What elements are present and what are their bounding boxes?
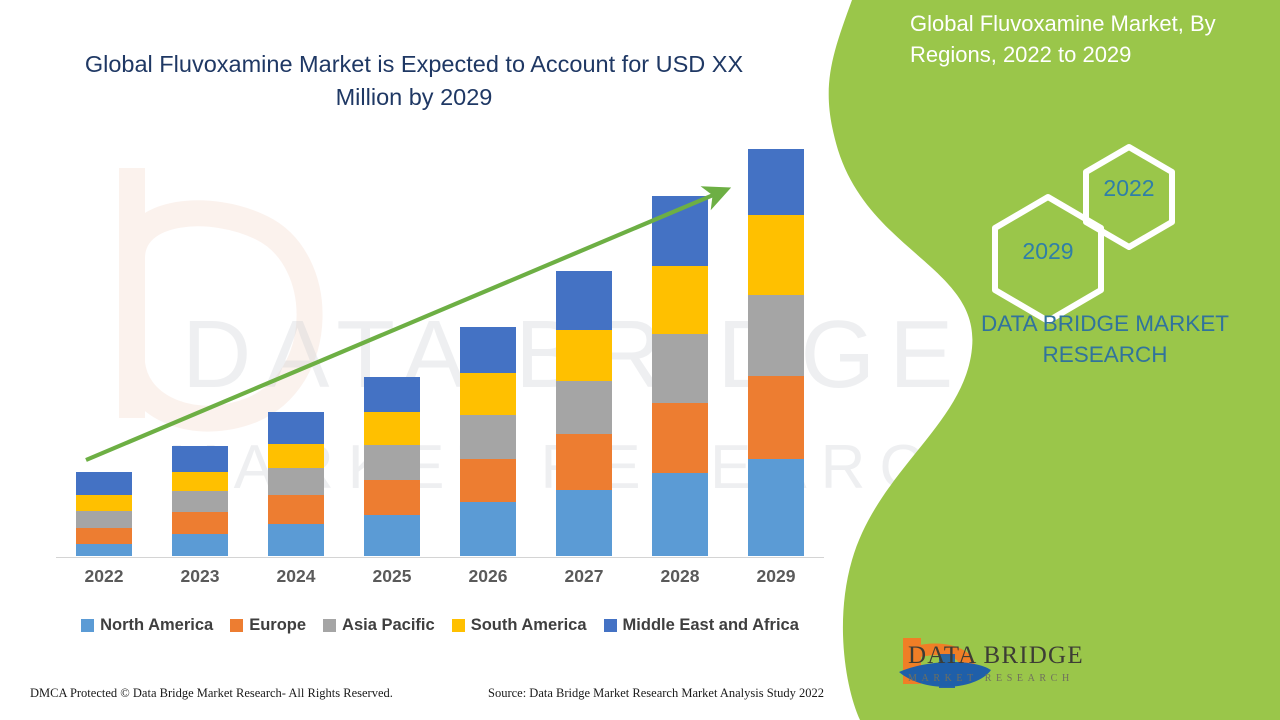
legend-swatch-icon xyxy=(604,619,617,632)
panel-brand-name: DATA BRIDGE MARKET RESEARCH xyxy=(940,308,1270,370)
legend-label: North America xyxy=(100,616,213,635)
x-axis-labels: 20222023202420252026202720282029 xyxy=(56,566,824,587)
x-axis-label-2026: 2026 xyxy=(460,566,516,587)
x-axis-label-2024: 2024 xyxy=(268,566,324,587)
legend-label: Asia Pacific xyxy=(342,616,435,635)
legend-item-north-america[interactable]: North America xyxy=(81,616,213,635)
x-axis-label-2022: 2022 xyxy=(76,566,132,587)
x-axis-label-2023: 2023 xyxy=(172,566,228,587)
logo-subtitle: MARKET RESEARCH xyxy=(908,673,1084,684)
chart-title: Global Fluvoxamine Market is Expected to… xyxy=(58,48,770,114)
hexagon-end-year: 2029 xyxy=(988,192,1108,326)
x-axis-label-2028: 2028 xyxy=(652,566,708,587)
source-note: Source: Data Bridge Market Research Mark… xyxy=(488,686,824,701)
legend-label: Europe xyxy=(249,616,306,635)
brand-panel: Global Fluvoxamine Market, By Regions, 2… xyxy=(790,0,1280,720)
legend-item-europe[interactable]: Europe xyxy=(230,616,306,635)
dmca-notice: DMCA Protected © Data Bridge Market Rese… xyxy=(30,686,393,701)
hexagon-end-year-label: 2029 xyxy=(988,238,1108,265)
legend-swatch-icon xyxy=(230,619,243,632)
chart-legend: North AmericaEuropeAsia PacificSouth Ame… xyxy=(56,616,824,635)
x-axis-label-2027: 2027 xyxy=(556,566,612,587)
data-bridge-logo-text: DATA BRIDGE MARKET RESEARCH xyxy=(908,642,1084,684)
legend-item-south-america[interactable]: South America xyxy=(452,616,587,635)
growth-trend-arrow-icon xyxy=(56,150,824,558)
hexagon-group: 2022 2029 xyxy=(980,142,1220,292)
panel-heading: Global Fluvoxamine Market, By Regions, 2… xyxy=(910,8,1270,70)
legend-swatch-icon xyxy=(81,619,94,632)
legend-swatch-icon xyxy=(323,619,336,632)
infographic-page: DATA BRIDGE MARKET RESEARCH Global Fluvo… xyxy=(0,0,1280,720)
x-axis-label-2025: 2025 xyxy=(364,566,420,587)
legend-item-middle-east-and-africa[interactable]: Middle East and Africa xyxy=(604,616,799,635)
logo-title: DATA BRIDGE xyxy=(908,642,1084,670)
legend-label: South America xyxy=(471,616,587,635)
legend-item-asia-pacific[interactable]: Asia Pacific xyxy=(323,616,435,635)
legend-swatch-icon xyxy=(452,619,465,632)
legend-label: Middle East and Africa xyxy=(623,616,799,635)
